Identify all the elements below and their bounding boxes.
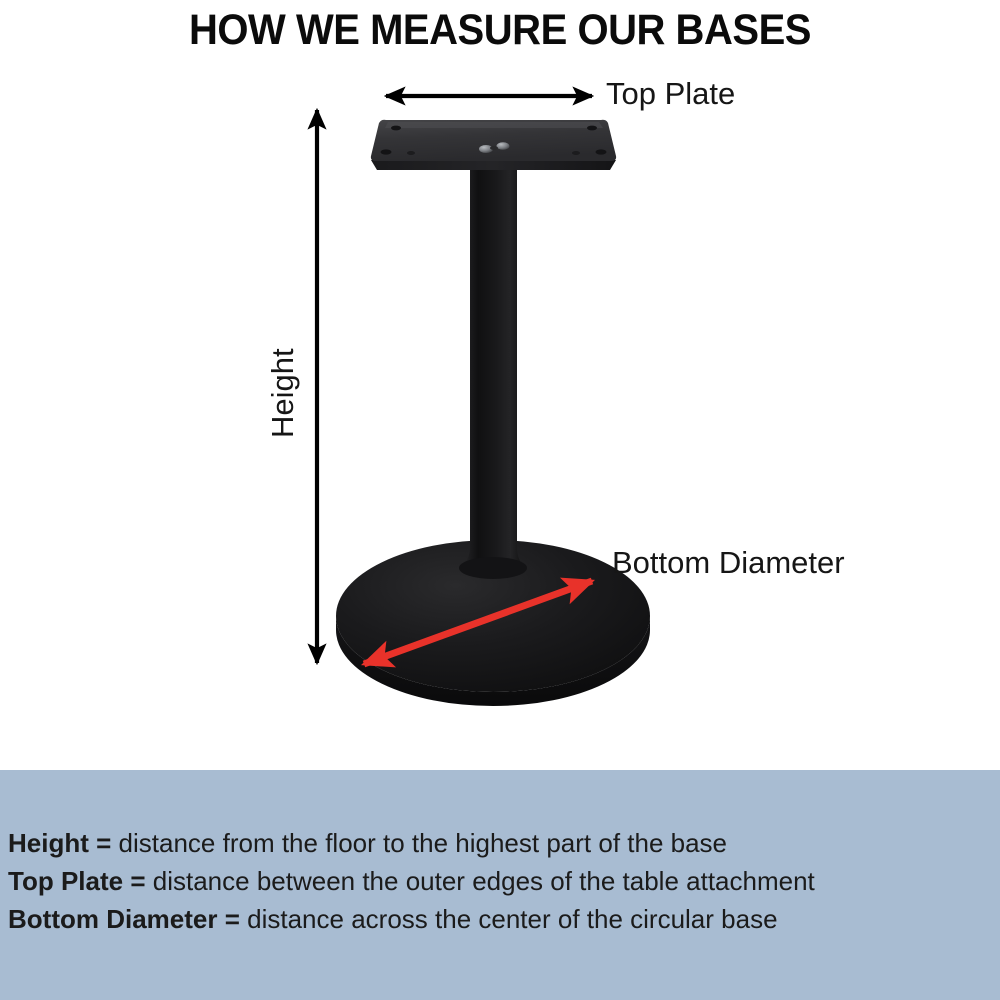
height-label: Height — [266, 348, 300, 438]
legend-band: Height = distance from the floor to the … — [0, 770, 1000, 1000]
legend-definition-top-plate: distance between the outer edges of the … — [153, 866, 815, 896]
bottom-diameter-dimension-arrow — [364, 581, 592, 664]
legend-term-top-plate: Top Plate — [8, 866, 123, 896]
legend-item-top-plate: Top Plate = distance between the outer e… — [8, 862, 992, 900]
legend-item-height: Height = distance from the floor to the … — [8, 824, 992, 862]
legend-term-bottom-diameter: Bottom Diameter — [8, 904, 217, 934]
top-plate-label: Top Plate — [606, 75, 735, 113]
infographic-page: HOW WE MEASURE OUR BASES — [0, 0, 1000, 1000]
dimension-arrows — [0, 0, 1000, 770]
table-base-diagram: Top Plate Bottom Diameter Height — [0, 0, 1000, 770]
legend-equals-top-plate: = — [123, 866, 145, 896]
legend-equals-height: = — [89, 828, 111, 858]
legend-item-bottom-diameter: Bottom Diameter = distance across the ce… — [8, 900, 992, 938]
bottom-diameter-label: Bottom Diameter — [612, 544, 845, 582]
legend-definition-bottom-diameter: distance across the center of the circul… — [247, 904, 777, 934]
legend-term-height: Height — [8, 828, 89, 858]
legend-equals-bottom-diameter: = — [217, 904, 239, 934]
legend-definition-height: distance from the floor to the highest p… — [119, 828, 727, 858]
legend-definition-list: Height = distance from the floor to the … — [8, 824, 992, 938]
